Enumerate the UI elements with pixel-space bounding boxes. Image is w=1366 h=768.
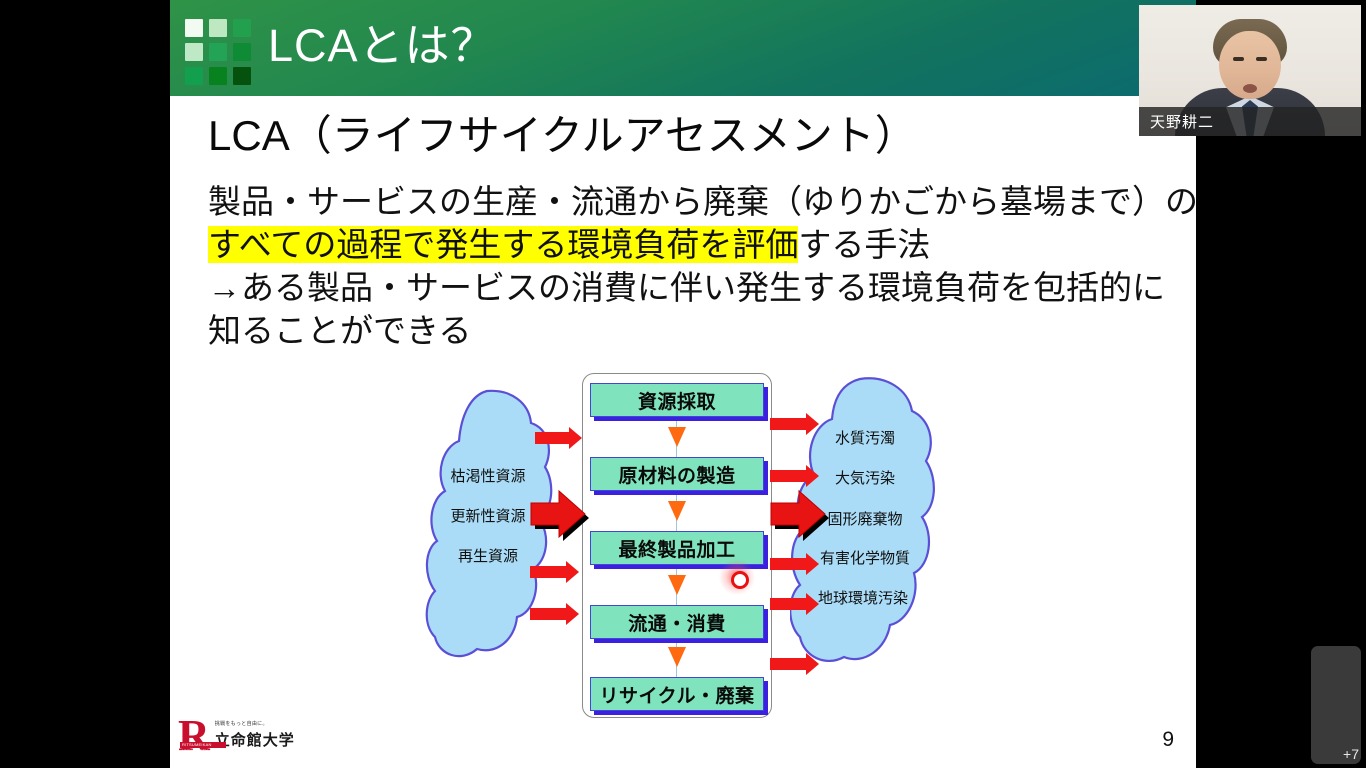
highlighted-phrase: すべての過程で発生する環境負荷を評価 — [208, 226, 798, 263]
grid-cell-3 — [233, 19, 251, 37]
body-line-2-tail: する手法 — [798, 226, 930, 263]
process-box-1: 原材料の製造 — [590, 457, 764, 491]
flow-arrow-1 — [668, 501, 686, 521]
process-box-4: リサイクル・廃棄 — [590, 677, 764, 711]
output-arrow-2 — [770, 553, 822, 575]
body-line-1: 製品・サービスの生産・流通から廃棄（ゆりかごから墓場まで）の — [208, 180, 1168, 223]
input-cloud-item-0: 枯渇性資源 — [425, 465, 551, 486]
output-arrow-1 — [770, 465, 822, 487]
big-input-arrow — [525, 487, 591, 541]
input-arrow-2 — [530, 603, 582, 625]
output-arrow-0 — [770, 413, 822, 435]
logo-bar: RITSUMEIKAN UNIVERSITY — [180, 742, 226, 748]
lifecycle-diagram: 枯渇性資源 更新性資源 再生資源 水質汚濁 大気汚染 固形廃棄物 有害化学物質 … — [425, 365, 925, 725]
page-title: LCA（ライフサイクルアセスメント） — [208, 112, 917, 160]
logo-tagline: 挑戦をもっと自由に。 — [215, 720, 295, 727]
grid-cell-1 — [185, 19, 203, 37]
screen: LCAとは？ LCA（ライフサイクルアセスメント） 製品・サービスの生産・流通か… — [0, 0, 1366, 768]
flow-arrow-3 — [668, 647, 686, 667]
body-line-2: すべての過程で発生する環境負荷を評価する手法 — [208, 223, 1168, 266]
laser-pointer-dot — [719, 559, 755, 595]
slide-header-title: LCAとは？ — [268, 10, 497, 82]
logo-bar-text: RITSUMEIKAN UNIVERSITY — [180, 742, 226, 754]
grid-cell-4 — [185, 43, 203, 61]
grid-cell-9 — [233, 67, 251, 85]
participant-name-bar: 天野耕二 — [1139, 107, 1361, 136]
grid-cell-5 — [209, 43, 227, 61]
page-number: 9 — [1162, 728, 1174, 752]
grid-cell-6 — [233, 43, 251, 61]
process-box-3: 流通・消費 — [590, 605, 764, 639]
grid-cell-8 — [209, 67, 227, 85]
output-arrow-4 — [770, 653, 822, 675]
flow-arrow-0 — [668, 427, 686, 447]
participant-name: 天野耕二 — [1150, 111, 1214, 132]
grid-cell-2 — [209, 19, 227, 37]
participant-video-tile[interactable]: 天野耕二 — [1139, 5, 1361, 136]
video-mouth — [1243, 84, 1257, 93]
header-grid-icon — [185, 19, 251, 85]
flow-arrow-2 — [668, 575, 686, 595]
input-arrow-0 — [535, 427, 583, 449]
slide-header: LCAとは？ — [170, 0, 1196, 96]
grid-cell-7 — [185, 67, 203, 85]
output-arrow-3 — [770, 593, 822, 615]
input-arrow-1 — [530, 561, 582, 583]
body-line-3: →ある製品・サービスの消費に伴い発生する環境負荷を包括的に知ることができる — [208, 266, 1168, 352]
process-box-0: 資源採取 — [590, 383, 764, 417]
video-eye-left — [1233, 57, 1244, 61]
logo-name: 立命館大学 — [215, 729, 295, 750]
more-participants-count: +7 — [1343, 746, 1359, 762]
big-output-arrow — [765, 487, 831, 541]
presentation-slide: LCAとは？ LCA（ライフサイクルアセスメント） 製品・サービスの生産・流通か… — [170, 0, 1196, 768]
video-eye-right — [1256, 57, 1267, 61]
body-text-block: 製品・サービスの生産・流通から廃棄（ゆりかごから墓場まで）の すべての過程で発生… — [208, 180, 1168, 352]
university-logo: R RITSUMEIKAN UNIVERSITY 挑戦をもっと自由に。 立命館大… — [178, 717, 295, 754]
